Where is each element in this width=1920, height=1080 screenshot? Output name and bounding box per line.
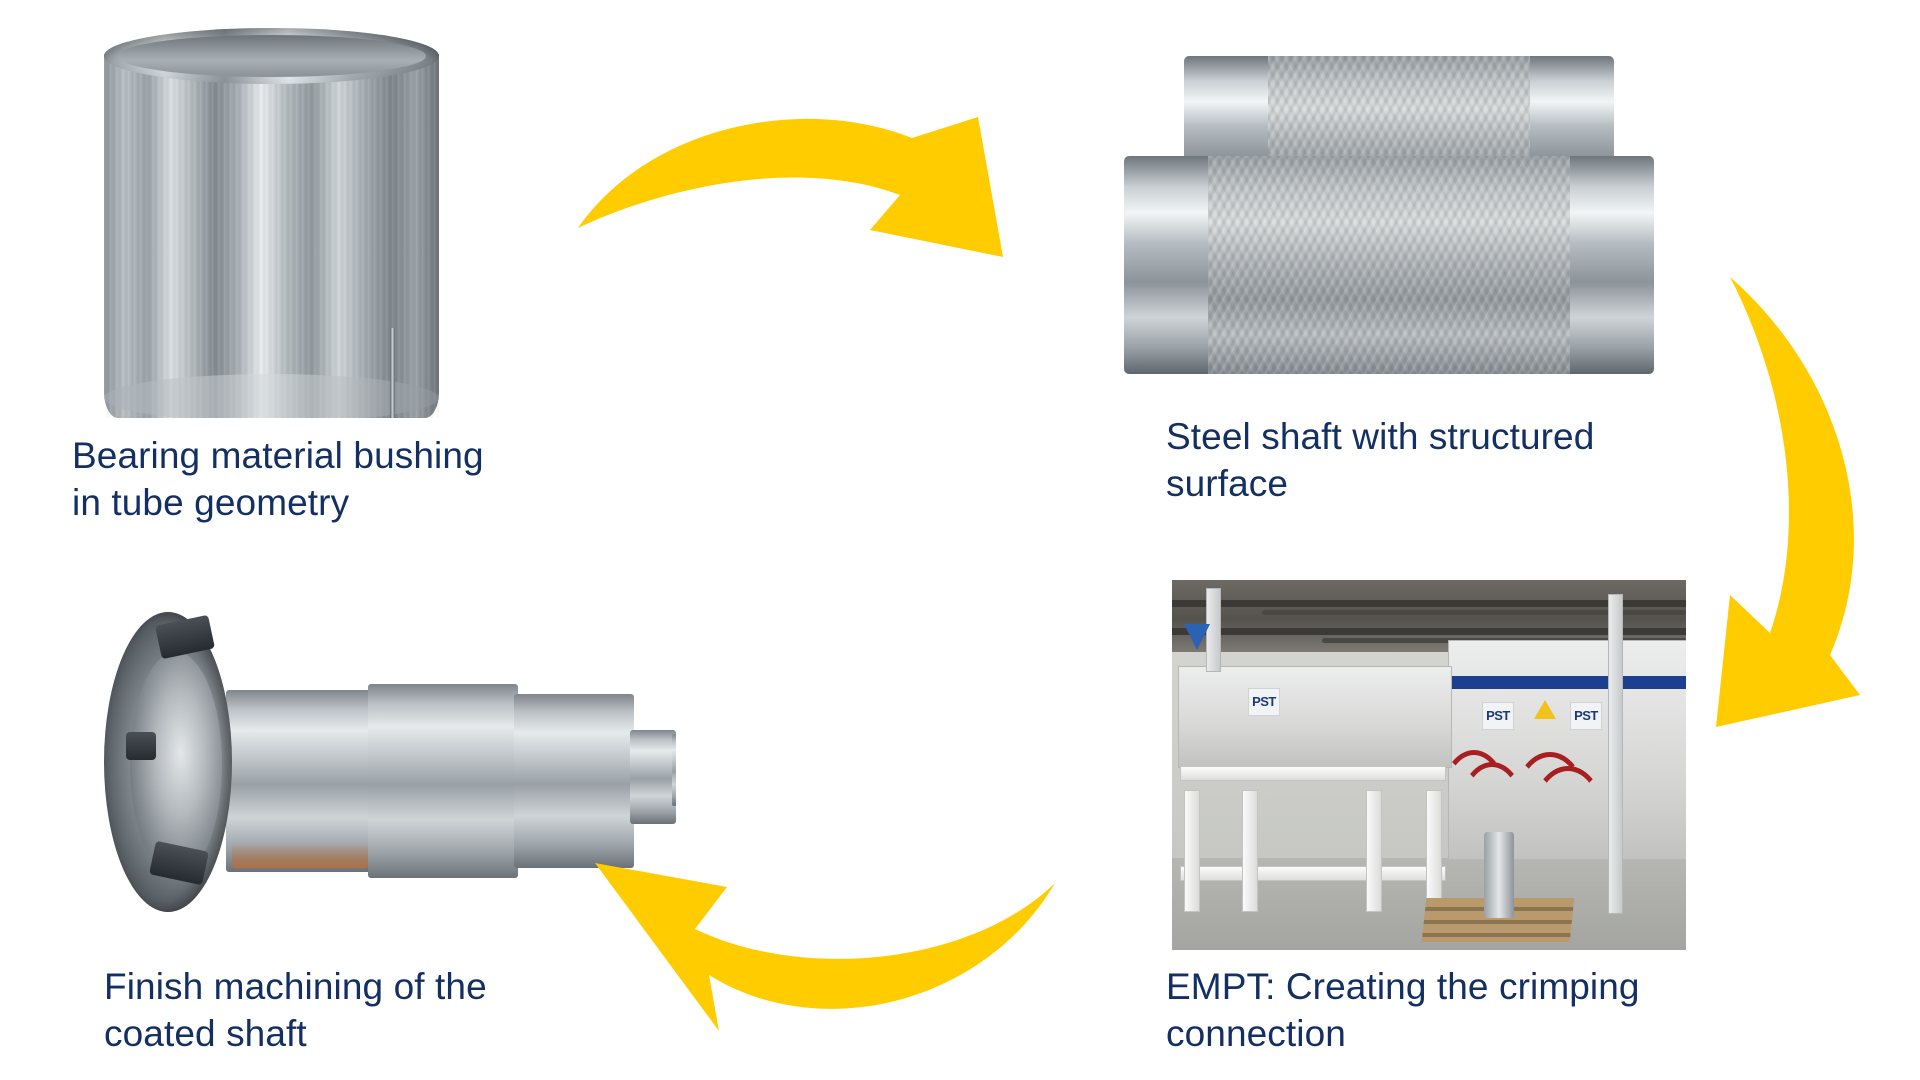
machine-enclosure — [1178, 666, 1452, 768]
warning-triangle-icon — [1534, 700, 1556, 719]
shaft-segment-4 — [630, 730, 676, 824]
pst-logo: PST — [1482, 702, 1514, 730]
power-cable — [1530, 766, 1606, 876]
tube-top-rim — [104, 28, 439, 84]
coating-band — [232, 842, 368, 868]
table-leg — [1242, 790, 1258, 912]
table-rail — [1180, 866, 1446, 881]
crane-hook-icon — [1184, 624, 1210, 650]
shaft-end-right — [1570, 156, 1654, 374]
arrow-bottom-right-to-bottom-left — [585, 855, 1075, 1065]
shaft-structured-surface — [1208, 156, 1570, 374]
bearing-material-bushing-photo — [104, 28, 439, 418]
steel-shaft-structured-surface-photo — [1124, 56, 1694, 374]
shaft-segment-3 — [514, 694, 634, 868]
table-leg — [1366, 790, 1382, 912]
tube-inner-bore — [117, 35, 426, 77]
metal-cylinder-part — [1484, 832, 1514, 918]
machine-support-table — [1180, 766, 1444, 912]
tube-body — [104, 54, 439, 418]
caption-steel-shaft: Steel shaft with structured surface — [1166, 413, 1706, 508]
arrow-top-right-to-bottom-right — [1690, 265, 1920, 760]
caption-empt-crimping: EMPT: Creating the crimping connection — [1166, 963, 1726, 1058]
tube-graphic — [104, 28, 439, 418]
pst-logo: PST — [1248, 688, 1280, 716]
pst-logo: PST — [1570, 702, 1602, 730]
caption-finish-machining: Finish machining of the coated shaft — [104, 963, 624, 1058]
chuck-jaw — [126, 732, 156, 760]
chuck-face-ring — [130, 652, 222, 877]
steel-shaft-front — [1124, 156, 1654, 374]
caption-bearing-bushing: Bearing material bushing in tube geometr… — [72, 432, 592, 527]
process-cycle-diagram: PST PST PST Bearing material bushing — [0, 0, 1920, 1080]
empt-machine-photo: PST PST PST — [1172, 580, 1686, 950]
shaft-tip — [672, 734, 676, 806]
cabinet-blue-stripe — [1448, 676, 1686, 689]
shaft-segment-2 — [368, 684, 518, 878]
arrow-top-left-to-top-right — [560, 95, 1050, 305]
table-rail — [1180, 766, 1446, 781]
tube-lower-rim — [104, 374, 439, 418]
hall-column — [1608, 594, 1623, 914]
shaft-end-left — [1124, 156, 1208, 374]
table-leg — [1184, 790, 1200, 912]
tube-seam — [390, 328, 395, 418]
